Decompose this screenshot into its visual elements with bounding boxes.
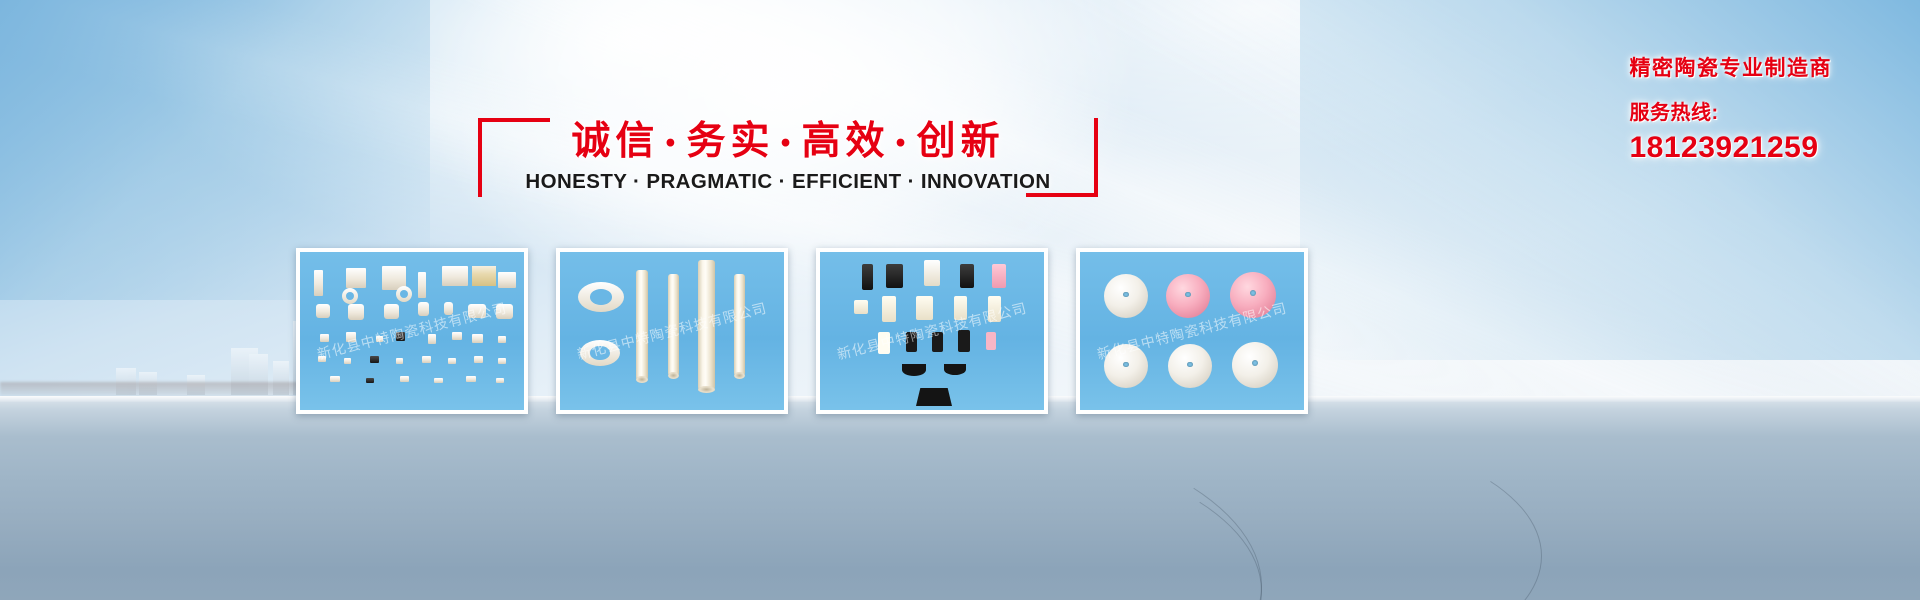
ceramic-valve-disc xyxy=(1168,344,1212,388)
ceramic-chip xyxy=(428,334,436,344)
ceramic-chip xyxy=(320,334,329,342)
ceramic-block xyxy=(882,296,896,322)
disc-hole xyxy=(1187,362,1193,368)
ceramic-chip xyxy=(496,378,504,383)
ceramic-tube xyxy=(734,274,745,376)
ceramic-ring xyxy=(342,288,358,304)
ceramic-chip xyxy=(422,356,431,363)
ceramic-chip xyxy=(366,378,374,383)
ceramic-chip xyxy=(344,358,351,364)
ceramic-tube xyxy=(698,260,715,390)
product-panel-3[interactable]: 新化县中特陶瓷科技有限公司 xyxy=(816,248,1048,414)
ceramic-trapezoid xyxy=(916,388,952,406)
ceramic-chip xyxy=(498,358,506,364)
ceramic-valve-disc xyxy=(1230,272,1276,318)
ceramic-block xyxy=(916,296,933,320)
ceramic-tube xyxy=(668,274,679,376)
ceramic-block xyxy=(986,332,996,350)
ceramic-valve-disc xyxy=(1104,344,1148,388)
ceramic-arc-segment xyxy=(902,364,926,376)
ceramic-ring xyxy=(396,286,412,302)
slogan-chinese: 诚信•务实•高效•创新 xyxy=(478,110,1098,166)
ceramic-chip xyxy=(474,356,483,363)
ceramic-block xyxy=(958,330,970,352)
ceramic-chip xyxy=(318,356,326,362)
company-tagline: 精密陶瓷专业制造商 xyxy=(1630,52,1833,82)
ceramic-chip xyxy=(376,336,383,342)
ceramic-chip xyxy=(384,304,399,319)
ceramic-block xyxy=(862,264,873,290)
ceramic-block xyxy=(924,260,940,286)
disc-hole xyxy=(1123,292,1129,298)
ceramic-valve-disc xyxy=(1104,274,1148,318)
slogan-block: 诚信•务实•高效•创新 HONESTY · PRAGMATIC · EFFICI… xyxy=(478,110,1098,195)
slogan-separator: • xyxy=(774,131,801,157)
slogan-separator: • xyxy=(890,131,917,157)
product-panel-4[interactable]: 新化县中特陶瓷科技有限公司 xyxy=(1076,248,1308,414)
tube-end xyxy=(668,372,679,379)
ceramic-chip xyxy=(444,302,453,315)
hero-banner: 诚信•务实•高效•创新 HONESTY · PRAGMATIC · EFFICI… xyxy=(0,0,1920,600)
ceramic-chip xyxy=(418,272,426,298)
ceramic-chip xyxy=(346,332,356,342)
ceramic-block xyxy=(954,296,967,320)
ceramic-chip xyxy=(346,268,366,288)
ceramic-block xyxy=(878,332,890,354)
ceramic-chip xyxy=(330,376,340,382)
disc-hole xyxy=(1252,360,1258,366)
ceramic-chip xyxy=(316,304,330,318)
product-panel-1[interactable]: 新化县中特陶瓷科技有限公司 xyxy=(296,248,528,414)
ceramic-chip xyxy=(466,376,476,382)
ceramic-chip xyxy=(498,272,516,288)
hotline-label: 服务热线: xyxy=(1630,96,1833,125)
tube-end xyxy=(734,372,745,379)
ceramic-chip xyxy=(434,378,443,383)
ceramic-block xyxy=(854,300,868,314)
slogan-word: 诚信 xyxy=(571,118,659,164)
ceramic-tube xyxy=(636,270,648,380)
ceramic-chip xyxy=(496,304,513,319)
tube-end xyxy=(636,376,648,383)
contact-block: 精密陶瓷专业制造商 服务热线: 18123921259 xyxy=(1630,52,1833,165)
disc-hole xyxy=(1250,290,1256,296)
slogan-word: 创新 xyxy=(917,118,1005,164)
ceramic-block xyxy=(906,332,917,352)
slogan-separator: • xyxy=(659,131,686,157)
product-panel-2[interactable]: 新化县中特陶瓷科技有限公司 xyxy=(556,248,788,414)
ceramic-chip xyxy=(348,304,364,320)
ceramic-block xyxy=(988,296,1001,322)
disc-hole xyxy=(1123,362,1129,368)
ring-hole xyxy=(590,346,609,360)
ceramic-chip xyxy=(418,302,429,316)
ring-hole xyxy=(346,292,354,300)
ceramic-valve-disc xyxy=(1232,342,1278,388)
ceramic-chip xyxy=(452,332,462,340)
ceramic-split-ring xyxy=(578,282,624,312)
ceramic-chip xyxy=(472,334,483,343)
ceramic-chip xyxy=(442,266,468,286)
ceramic-chip xyxy=(314,270,323,296)
ring-hole xyxy=(400,290,408,298)
ceramic-chip xyxy=(396,358,403,364)
ceramic-chip xyxy=(396,332,405,341)
ceramic-chip xyxy=(468,304,486,318)
ceramic-block xyxy=(992,264,1006,288)
ceramic-chip xyxy=(448,358,456,364)
ceramic-arc-segment xyxy=(944,364,966,375)
hotline-phone-number[interactable]: 18123921259 xyxy=(1630,131,1833,165)
ceramic-chip xyxy=(370,356,379,363)
slogan-english: HONESTY · PRAGMATIC · EFFICIENT · INNOVA… xyxy=(478,170,1098,194)
ceramic-block xyxy=(932,332,943,352)
ceramic-chip xyxy=(472,266,496,286)
ceramic-block xyxy=(886,264,903,288)
disc-hole xyxy=(1185,292,1191,298)
ceramic-split-ring xyxy=(580,340,620,366)
ceramic-valve-disc xyxy=(1166,274,1210,318)
product-panel-row: 新化县中特陶瓷科技有限公司 新化县中特陶瓷科技有限公司 新化县中特陶瓷科技有限公… xyxy=(296,248,1528,406)
ceramic-chip xyxy=(400,376,409,382)
slogan-word: 务实 xyxy=(686,118,774,164)
slogan-word: 高效 xyxy=(802,118,890,164)
ceramic-chip xyxy=(498,336,506,343)
ceramic-block xyxy=(960,264,974,288)
tube-end xyxy=(698,386,715,393)
ring-hole xyxy=(590,289,612,305)
